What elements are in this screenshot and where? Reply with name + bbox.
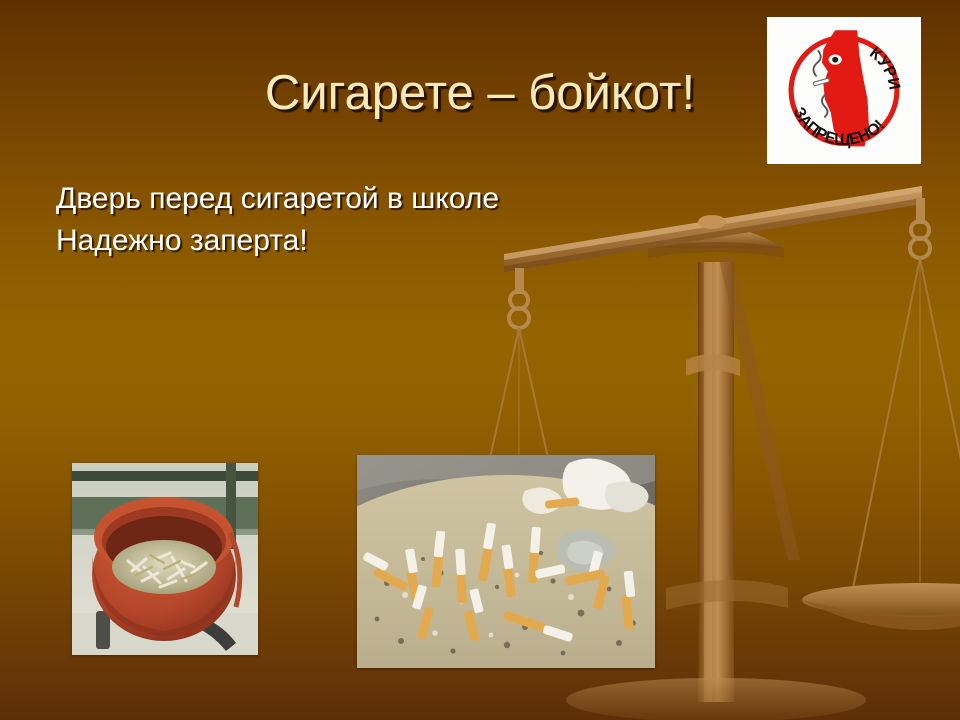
slide: КУРИТЬ ЗАПРЕЩЕНО! Сигарете – бойкот! Две…	[0, 0, 960, 720]
slide-body: Дверь перед сигаретой в школе Надежно за…	[56, 178, 676, 262]
slide-title: Сигарете – бойкот!	[0, 64, 960, 122]
body-line-2: Надежно заперта!	[56, 220, 676, 262]
photo-cigarette-butts-in-sand	[357, 455, 655, 668]
photo-bucket-of-cigarette-butts	[72, 463, 258, 655]
scale-right-arm	[802, 198, 960, 630]
body-line-1: Дверь перед сигаретой в школе	[56, 178, 676, 220]
